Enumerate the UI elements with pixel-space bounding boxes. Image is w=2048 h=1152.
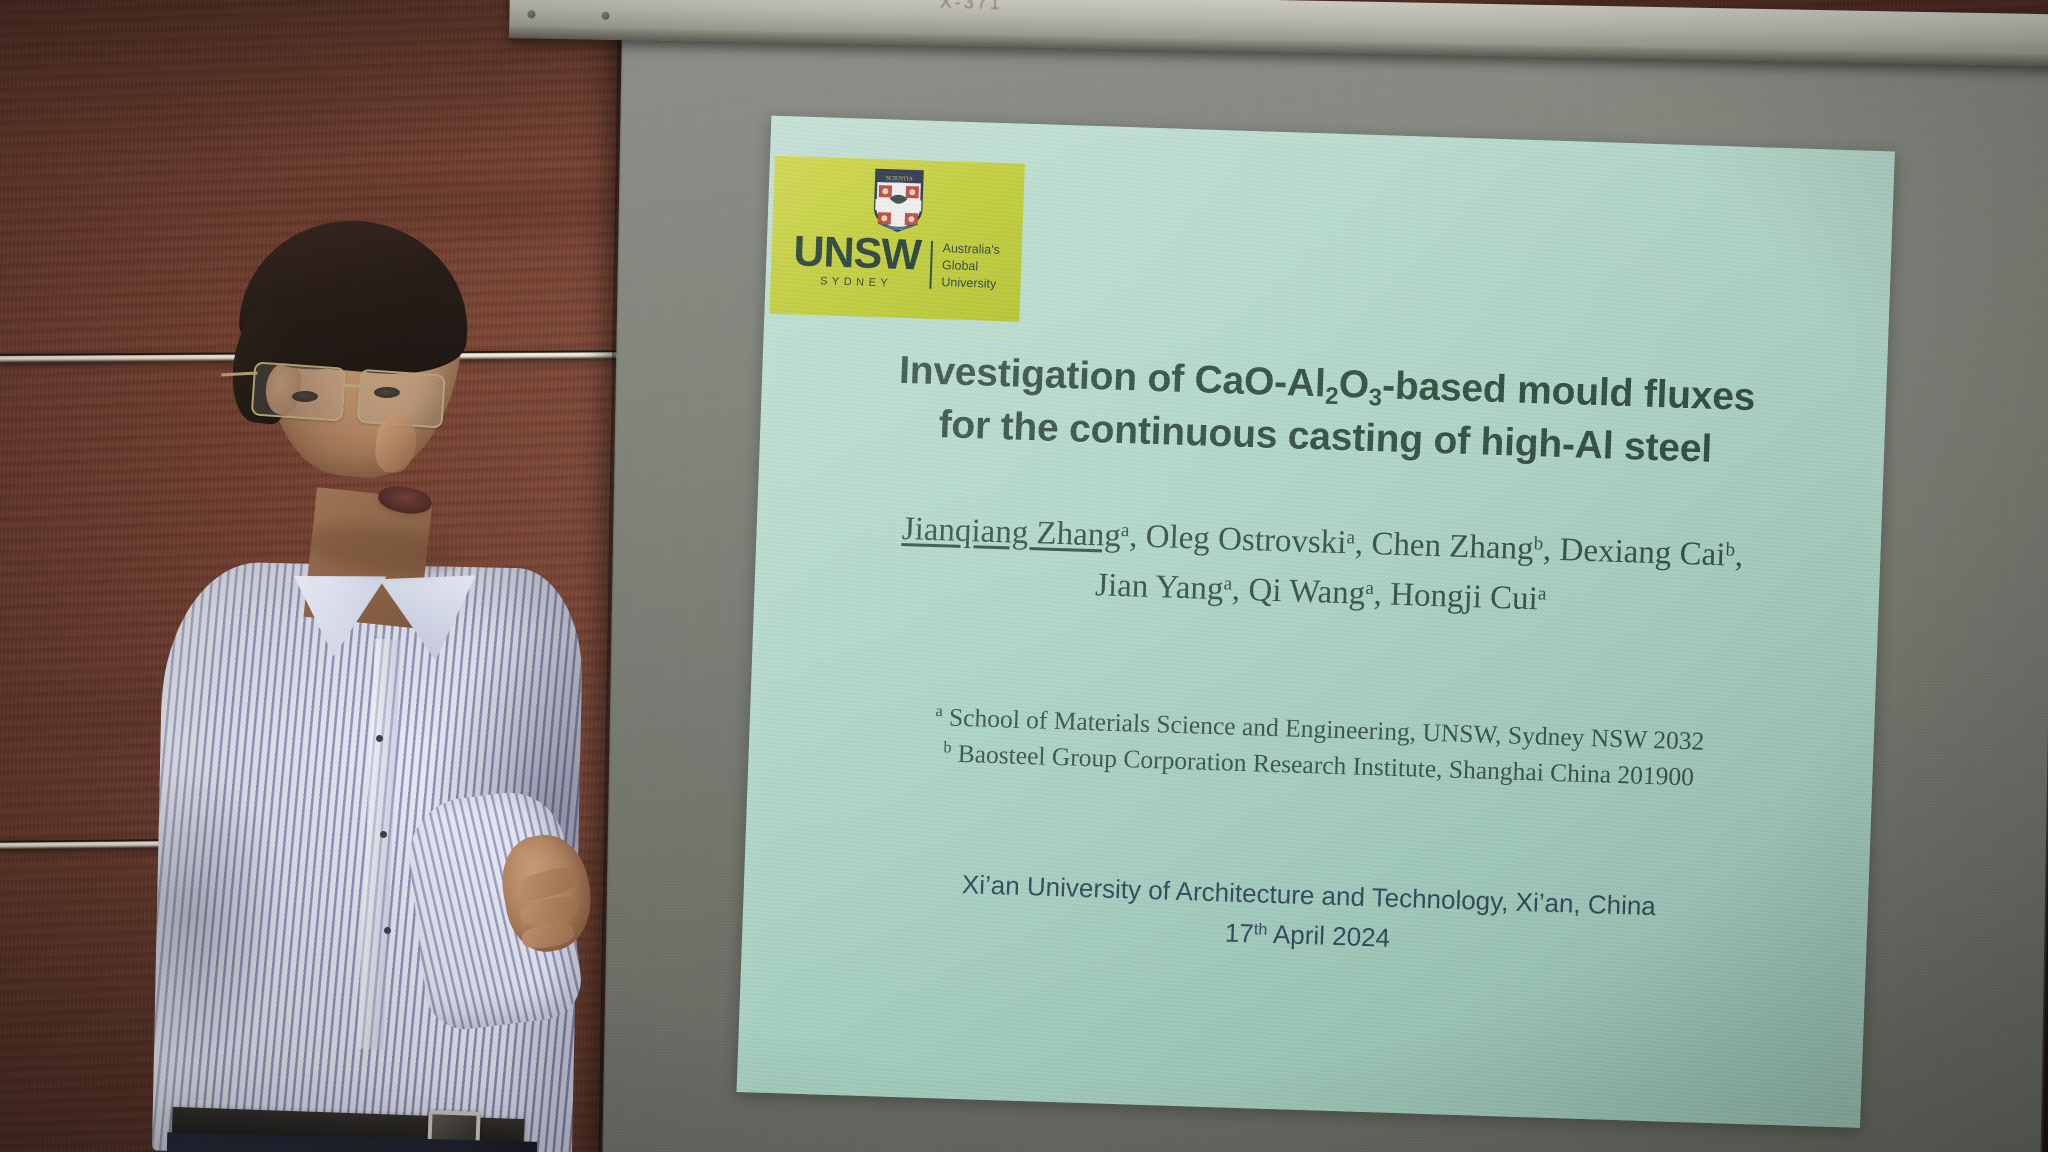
unsw-tagline-line2: Global <box>942 257 1000 276</box>
unsw-shield-crest-icon: SCIENTIA <box>872 168 924 234</box>
affiliation-marker: a <box>935 701 943 720</box>
author-entry: Hongji Cuia <box>1390 577 1547 618</box>
projector-screen-surface: SCIENTIA UNSW S <box>602 26 2048 1152</box>
author-entry: Jianqiang Zhanga, <box>901 511 1146 555</box>
title-sub-3: 3 <box>1368 384 1382 411</box>
unsw-wordmark: UNSW SYDNEY Australia's Global Universit… <box>770 232 1022 294</box>
projected-slide: SCIENTIA UNSW S <box>737 116 1895 1128</box>
author-entry: Qi Wanga, <box>1248 572 1391 613</box>
author-affil-marker: a <box>1538 584 1547 605</box>
svg-text:SCIENTIA: SCIENTIA <box>885 176 913 183</box>
author-sep: , <box>1542 531 1560 568</box>
slide-venue-block: Xi’an University of Architecture and Tec… <box>762 858 1854 973</box>
author-sep: , <box>1354 525 1372 562</box>
author-name: Qi Wang <box>1248 572 1366 612</box>
unsw-wordmark-text: UNSW <box>793 232 922 276</box>
title-line1-post: -based mould fluxes <box>1381 364 1756 419</box>
author-sep: , <box>1373 576 1391 613</box>
housing-screw <box>527 10 535 18</box>
presenter-shirt-button <box>380 831 387 838</box>
author-name: Oleg Ostrovski <box>1145 519 1347 561</box>
slide-author-list: Jianqiang Zhanga, Oleg Ostrovskia, Chen … <box>774 500 1869 635</box>
housing-screw <box>601 12 609 20</box>
author-name: Jianqiang Zhang <box>901 511 1121 554</box>
author-name: Dexiang Cai <box>1559 532 1726 573</box>
eyeglass-lens-left <box>251 361 347 421</box>
author-sep: , <box>1734 538 1744 574</box>
title-sub-2: 2 <box>1325 383 1339 410</box>
author-entry: Jian Yanga, <box>1095 567 1250 608</box>
presenter-figure <box>170 235 650 1152</box>
author-entry: Chen Zhangb, <box>1371 526 1560 568</box>
author-name: Jian Yang <box>1095 567 1225 607</box>
author-entry: Dexiang Caib, <box>1559 532 1744 574</box>
housing-model-label: X-371 <box>940 0 1003 14</box>
author-name: Hongji Cui <box>1390 577 1539 618</box>
eyeglass-bridge <box>343 384 363 388</box>
slide-title: Investigation of CaO-Al2O3-based mould f… <box>784 342 1869 480</box>
presentation-photo-scene: SCIENTIA UNSW S <box>0 0 2048 1152</box>
author-name: Chen Zhang <box>1371 526 1534 567</box>
presenter-shirt-button <box>384 927 391 934</box>
author-entry: Oleg Ostrovskia, <box>1145 519 1372 562</box>
slide-affiliations: a School of Materials Science and Engine… <box>782 694 1856 800</box>
venue-date-day: 17 <box>1224 918 1254 949</box>
logo-divider-line <box>930 241 933 289</box>
author-sep: , <box>1129 518 1147 555</box>
venue-date-ordinal: th <box>1254 921 1268 939</box>
unsw-tagline: Australia's Global University <box>941 240 1000 292</box>
unsw-tagline-line3: University <box>941 274 999 293</box>
author-sep: , <box>1231 572 1249 609</box>
affiliation-marker: b <box>943 737 952 756</box>
unsw-tagline-line1: Australia's <box>942 240 1000 259</box>
unsw-logo-block: SCIENTIA UNSW S <box>769 156 1025 322</box>
presenter-shirt-button <box>376 735 383 742</box>
title-line1-mid: O <box>1338 363 1370 407</box>
venue-date-rest: April 2024 <box>1267 919 1391 953</box>
title-line1-pre: Investigation of CaO-Al <box>898 349 1326 406</box>
